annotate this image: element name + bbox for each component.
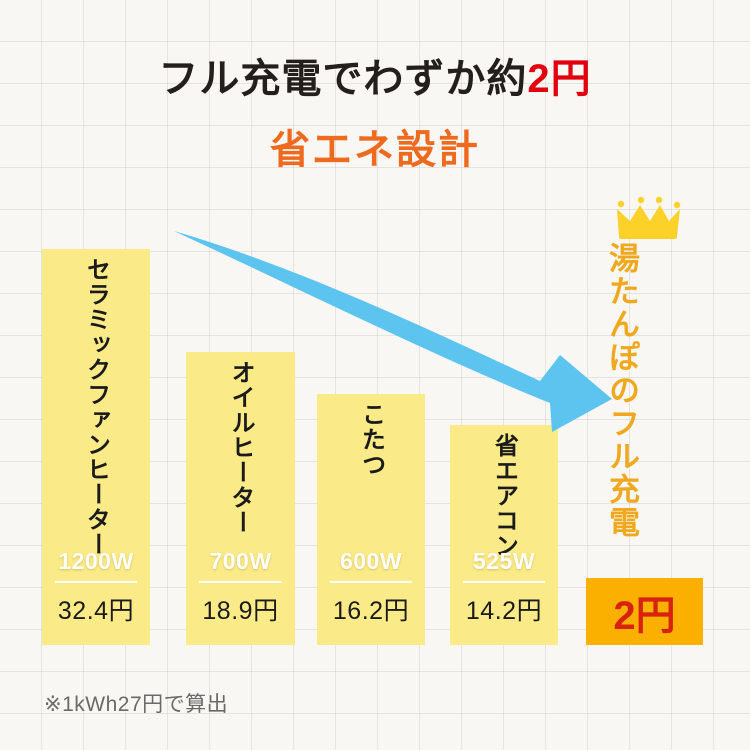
footnote: ※1kWh27円で算出	[44, 688, 228, 718]
bar-price-label: 32.4円	[42, 591, 150, 627]
table-row: オイルヒーター 700W 18.9円	[186, 352, 295, 645]
bar-price-label: 14.2円	[450, 591, 558, 627]
bar-watt-label: 700W	[186, 548, 295, 575]
bar-category-label: こたつ	[357, 402, 385, 477]
crown-icon	[611, 196, 687, 242]
bar-category-label: 省エアコン	[490, 433, 518, 558]
table-row: こたつ 600W 16.2円	[317, 394, 425, 645]
table-row: 省エアコン 525W 14.2円	[450, 425, 558, 645]
infographic-canvas: フル充電でわずか約2円 省エネ設計 セラミックファンヒーター 1200W 32.…	[0, 0, 750, 750]
bar-divider	[463, 581, 545, 583]
table-row: セラミックファンヒーター 1200W 32.4円	[42, 249, 150, 645]
bar-divider	[55, 581, 137, 583]
bar-watt-label: 1200W	[42, 548, 150, 575]
bar-price-label: 18.9円	[186, 591, 295, 627]
bar-price-label: 16.2円	[317, 591, 425, 627]
highlight-category-label: 湯たんぽのフル充電	[604, 242, 644, 539]
highlight-price-label: 2円	[586, 583, 703, 641]
bar-category-label: オイルヒーター	[227, 360, 255, 535]
bar-category-label: セラミックファンヒーター	[82, 257, 110, 557]
bar-divider	[330, 581, 412, 583]
bar-watt-label: 525W	[450, 548, 558, 575]
bar-watt-label: 600W	[317, 548, 425, 575]
bar-divider	[199, 581, 282, 583]
highlight-price-box: 2円	[586, 578, 703, 645]
